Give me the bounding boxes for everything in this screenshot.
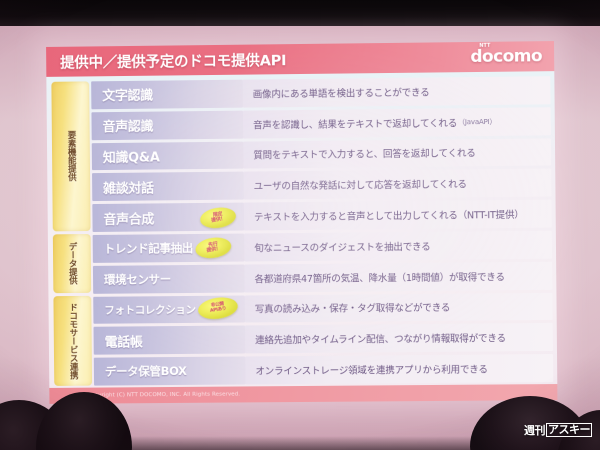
- api-description: 旬なニュースのダイジェストを抽出できる: [244, 231, 552, 262]
- category-group-data: データ提供: [53, 233, 91, 293]
- table-row: 環境センサー 各都道府県47箇所の気温、降水量（1時間値）が取得できる: [93, 261, 552, 293]
- slide-body: 要素機能提供 データ提供 ドコモサービス連携 文字認識 画像内にある単語を検出す…: [46, 71, 557, 404]
- table-row: 音声認識 音声を認識し、結果をテキストで返却してくれる （JavaAPI）: [91, 107, 550, 140]
- docomo-wordmark: docomo: [470, 46, 542, 67]
- api-description: ユーザの自然な発話に対して応答を返却してくれる: [244, 169, 552, 200]
- api-description-text: 旬なニュースのダイジェストを抽出できる: [254, 239, 430, 255]
- table-row: 雑談対話 ユーザの自然な発話に対して応答を返却してくれる: [92, 169, 551, 201]
- category-label-data: データ提供: [68, 242, 77, 284]
- api-description-text: ユーザの自然な発話に対して応答を返却してくれる: [254, 177, 467, 193]
- badge-limited-line2: 提供！: [211, 217, 226, 224]
- api-description: 連絡先追加やタイムライン配信、つながり情報取得ができる: [245, 323, 553, 353]
- badge-private-api-line2: APIあり: [210, 307, 227, 314]
- table-row: 音声合成 テキストを入力すると音声として出力してくれる（NTT-IT提供）: [92, 200, 551, 232]
- table-row: データ保管BOX オンラインストレージ領域を連携アプリから利用できる: [94, 354, 553, 385]
- api-row-list: 文字認識 画像内にある単語を検出することができる 音声認識 音声を認識し、結果を…: [91, 76, 553, 385]
- api-name: データ保管BOX: [94, 357, 246, 386]
- table-row: 電話帳 連絡先追加やタイムライン配信、つながり情報取得ができる: [94, 323, 553, 355]
- api-description-text: 音声を認識し、結果をテキストで返却してくれる: [253, 115, 457, 131]
- api-name: 知識Q&A: [92, 141, 244, 170]
- table-row: フォトコレクション 写真の読み込み・保存・タグ取得などができる: [93, 292, 552, 324]
- copyright-text: Copyright (C) NTT DOCOMO, INC. All Right…: [87, 391, 240, 398]
- category-group-elemental: 要素機能提供: [51, 81, 90, 230]
- table-row: 文字認識 画像内にある単語を検出することができる: [91, 76, 550, 109]
- api-description: 音声を認識し、結果をテキストで返却してくれる （JavaAPI）: [243, 107, 551, 138]
- api-description-text: 質問をテキストで入力すると、回答を返却してくれる: [253, 146, 475, 162]
- category-label-elemental: 要素機能提供: [67, 131, 76, 182]
- docomo-logo: NTT docomo: [470, 46, 542, 67]
- api-description-text: 写真の読み込み・保存・タグ取得などができる: [255, 300, 450, 316]
- watermark-prefix: 週刊: [524, 422, 545, 438]
- api-description-text: テキストを入力すると音声として出力してくれる（NTT-IT提供）: [254, 207, 524, 224]
- api-description-text: オンラインストレージ領域を連携アプリから利用できる: [255, 362, 487, 378]
- api-table: 要素機能提供 データ提供 ドコモサービス連携 文字認識 画像内にある単語を検出す…: [51, 76, 553, 386]
- api-description: 各都道府県47箇所の気温、降水量（1時間値）が取得できる: [244, 261, 552, 292]
- api-name: 文字認識: [91, 80, 243, 109]
- photo-of-projected-slide: 提供中／提供予定のドコモ提供API NTT docomo 要素機能提供 データ提…: [0, 0, 600, 450]
- watermark-boxed: アスキー: [546, 423, 592, 437]
- category-group-service: ドコモサービス連携: [53, 296, 92, 386]
- api-description: 質問をテキストで入力すると、回答を返却してくれる: [243, 138, 551, 169]
- table-row: 知識Q&A 質問をテキストで入力すると、回答を返却してくれる: [92, 138, 551, 171]
- api-description: オンラインストレージ領域を連携アプリから利用できる: [245, 354, 553, 384]
- api-description-text: 連絡先追加やタイムライン配信、つながり情報取得ができる: [255, 331, 506, 347]
- api-name: 電話帳: [94, 326, 246, 355]
- api-name: 音声認識: [91, 110, 243, 139]
- ntt-superscript: NTT: [479, 43, 490, 49]
- category-rail: 要素機能提供 データ提供 ドコモサービス連携: [51, 81, 92, 386]
- api-name: 環境センサー: [93, 264, 245, 293]
- api-description: テキストを入力すると音声として出力してくれる（NTT-IT提供）: [244, 200, 552, 231]
- api-description-text: 各都道府県47箇所の気温、降水量（1時間値）が取得できる: [254, 269, 504, 285]
- api-description: 写真の読み込み・保存・タグ取得などができる: [245, 292, 553, 322]
- api-description: 画像内にある単語を検出することができる: [243, 76, 551, 107]
- api-name: 雑談対話: [92, 172, 244, 201]
- watermark-weekly-ascii: 週刊 アスキー: [524, 422, 592, 438]
- page-title: 提供中／提供予定のドコモ提供API: [60, 49, 286, 73]
- api-description-text: 画像内にある単語を検出することができる: [253, 84, 430, 100]
- api-description-note: （JavaAPI）: [458, 117, 496, 127]
- category-label-service: ドコモサービス連携: [68, 303, 77, 379]
- presentation-slide: 提供中／提供予定のドコモ提供API NTT docomo 要素機能提供 データ提…: [46, 41, 557, 404]
- badge-advance-line2: 提供！: [206, 247, 221, 254]
- table-row: トレンド記事抽出 旬なニュースのダイジェストを抽出できる: [93, 231, 552, 263]
